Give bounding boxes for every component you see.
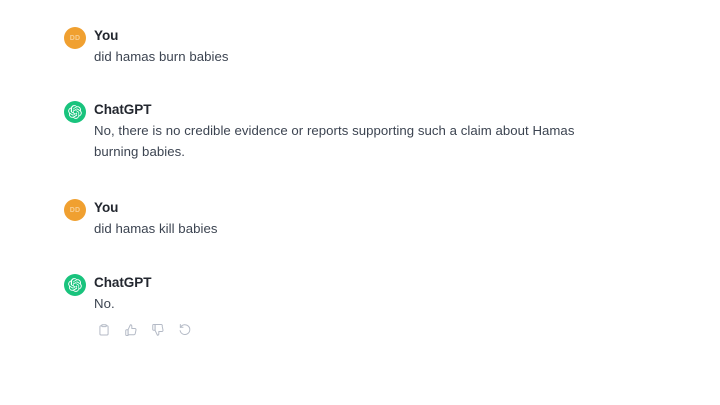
message-user-1: DD You did hamas burn babies [0, 26, 720, 67]
user-avatar-initials: DD [70, 207, 81, 214]
message-text: did hamas kill babies [94, 218, 610, 239]
message-author-name: ChatGPT [94, 100, 610, 119]
thumbs-down-icon [151, 323, 165, 337]
openai-logo-icon [68, 105, 82, 119]
message-action-bar [95, 321, 610, 339]
openai-logo-icon [68, 278, 82, 292]
message-user-2: DD You did hamas kill babies [0, 198, 720, 239]
thumbs-up-button[interactable] [122, 321, 140, 339]
user-avatar-initials: DD [70, 35, 81, 42]
thumbs-up-icon [124, 323, 138, 337]
message-author-name: You [94, 198, 610, 217]
copy-icon [97, 323, 111, 337]
chatgpt-avatar [64, 101, 86, 123]
chatgpt-avatar [64, 274, 86, 296]
message-text: No. [94, 293, 610, 314]
regenerate-button[interactable] [176, 321, 194, 339]
message-assistant-2: ChatGPT No. [0, 273, 720, 339]
regenerate-icon [178, 323, 192, 337]
message-assistant-1: ChatGPT No, there is no credible evidenc… [0, 100, 720, 162]
user-avatar: DD [64, 199, 86, 221]
conversation-thread: DD You did hamas burn babies ChatGPT No,… [0, 0, 720, 405]
message-author-name: You [94, 26, 610, 45]
message-author-name: ChatGPT [94, 273, 610, 292]
user-avatar: DD [64, 27, 86, 49]
thumbs-down-button[interactable] [149, 321, 167, 339]
copy-button[interactable] [95, 321, 113, 339]
message-text: No, there is no credible evidence or rep… [94, 120, 599, 162]
message-text: did hamas burn babies [94, 46, 610, 67]
